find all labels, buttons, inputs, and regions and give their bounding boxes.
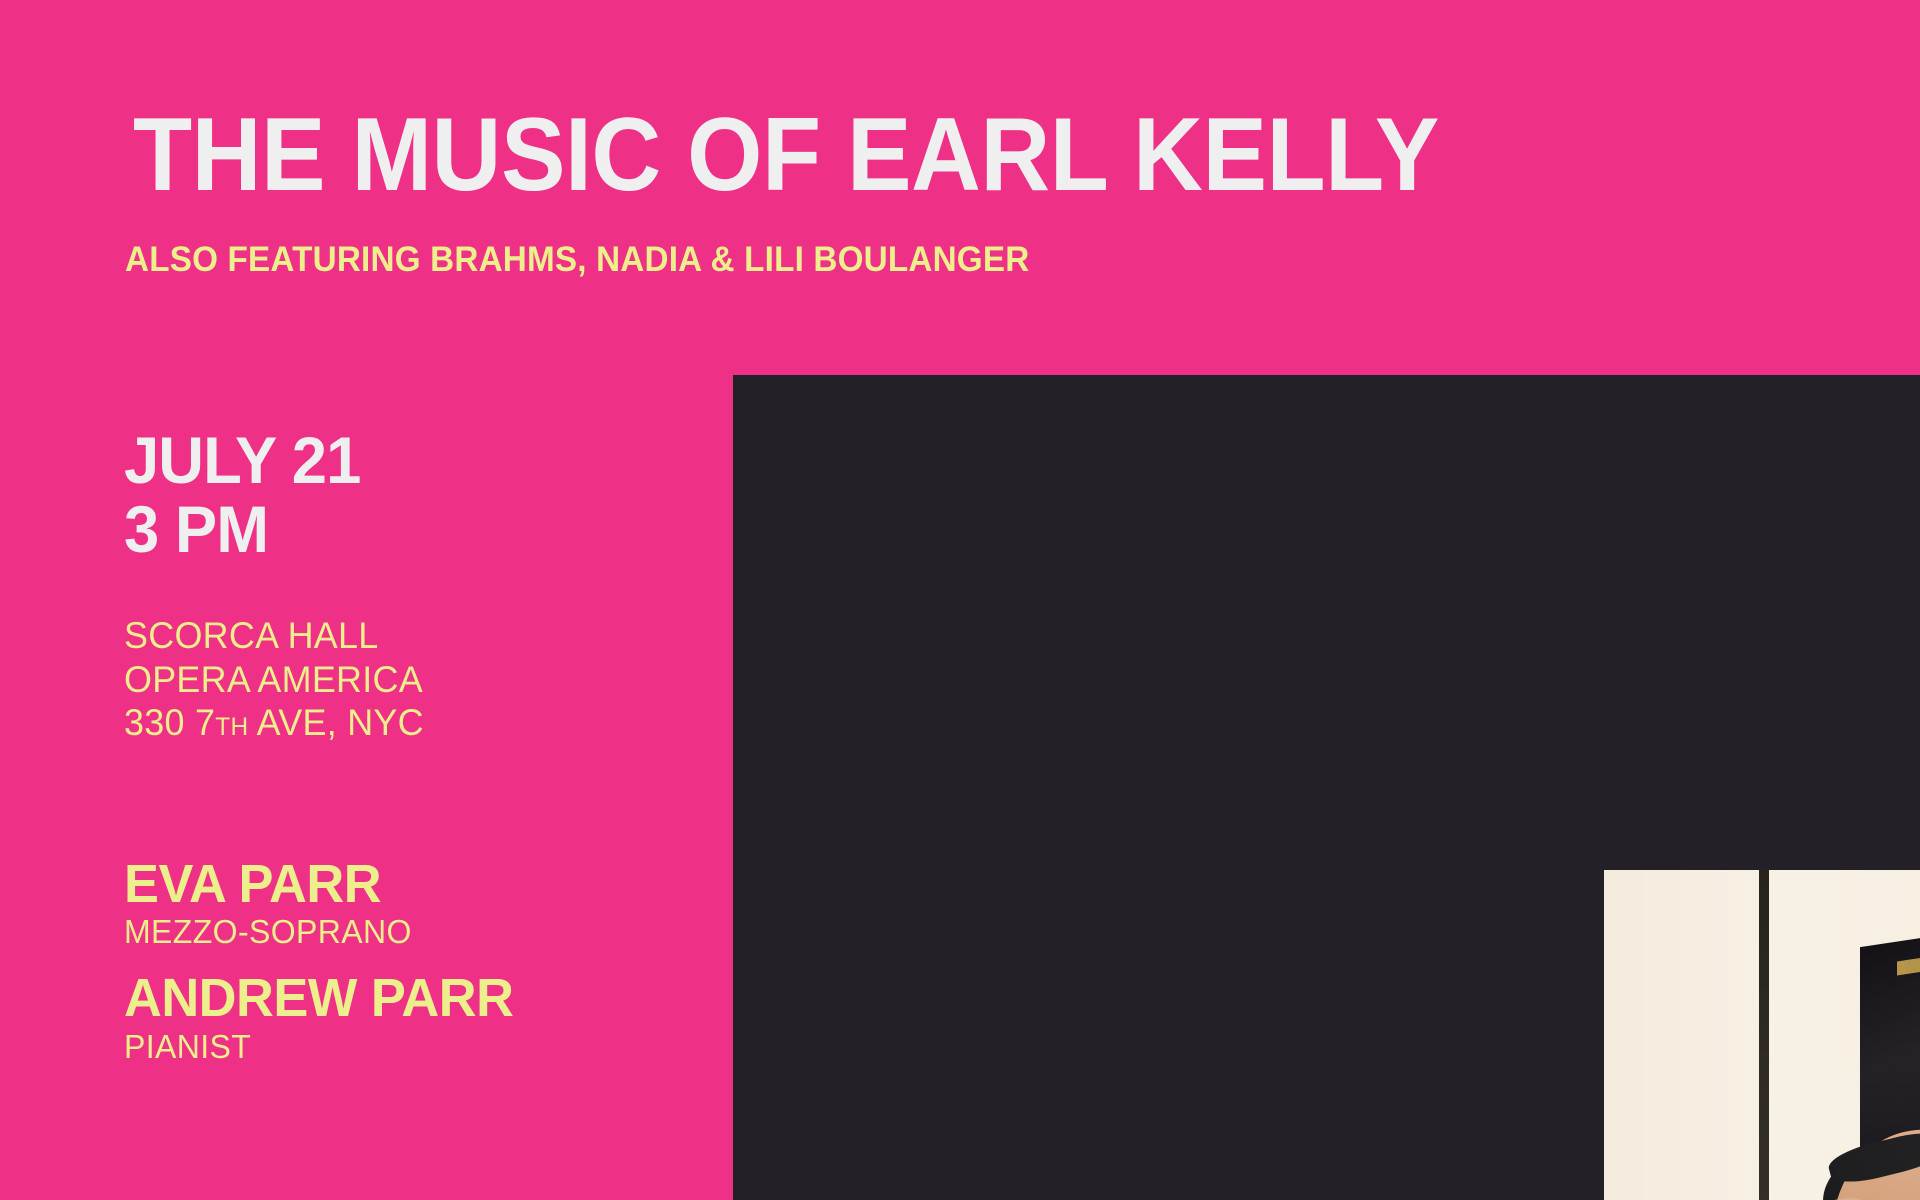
venue-hall: SCORCA HALL [124,614,424,658]
venue-street-number: 330 7 [124,702,215,743]
artist-name: ANDREW PARR [124,970,513,1026]
event-time: 3 PM [124,495,360,564]
artist-role: MEZZO-SOPRANO [124,912,513,952]
wall-seam [1759,870,1769,1200]
venue-organization: OPERA AMERICA [124,658,424,702]
event-datetime: JULY 21 3 PM [124,426,360,563]
venue-address: SCORCA HALL OPERA AMERICA 330 7TH AVE, N… [124,614,424,745]
venue-street-ordinal: TH [215,713,248,741]
venue-street: 330 7TH AVE, NYC [124,701,424,745]
subtitle: ALSO FEATURING BRAHMS, NADIA & LILI BOUL… [125,240,1029,280]
concert-poster: THE MUSIC OF EARL KELLY ALSO FEATURING B… [0,0,1920,1200]
artist-role: PIANIST [124,1027,513,1067]
venue-street-rest: AVE, NYC [248,702,423,743]
page-title: THE MUSIC OF EARL KELLY [133,108,1439,204]
artist-credits: EVA PARR MEZZO-SOPRANO ANDREW PARR PIANI… [124,856,513,1067]
artist-name: EVA PARR [124,856,513,912]
event-date: JULY 21 [124,426,360,495]
artist-photo [1604,870,1920,1200]
photo-panel [733,375,1920,1200]
photo-stage [1604,870,1920,1200]
